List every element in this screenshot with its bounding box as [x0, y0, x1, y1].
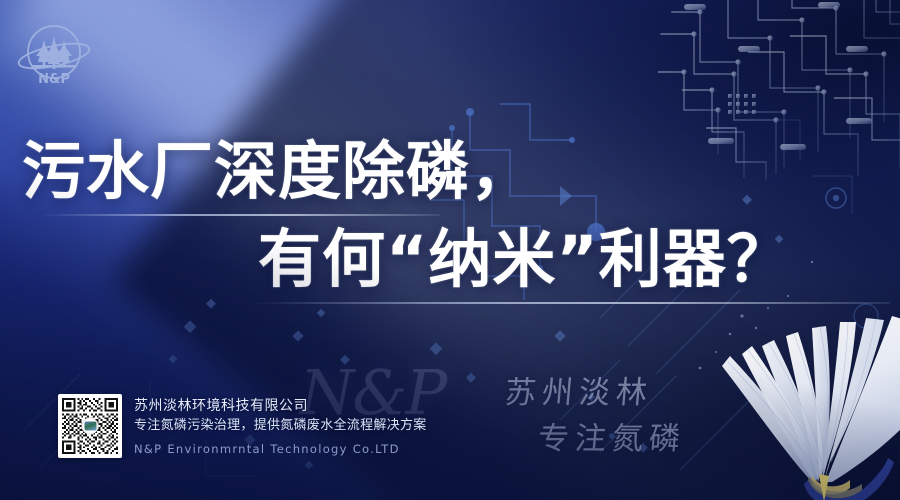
qr-center-logo: [82, 418, 99, 435]
footer-block: 苏州淡林环境科技有限公司 专注氮磷污染治理，提供氮磷废水全流程解决方案 N&P …: [58, 394, 427, 459]
company-name-en: N&P Environmrntal Technology Co.LTD: [134, 439, 427, 459]
company-name-cn: 苏州淡林环境科技有限公司: [134, 396, 427, 416]
poster-canvas: N&P 污水厂深度除磷， 有何“纳米”利器？ N&P 苏州淡林 专注氮磷: [0, 0, 900, 500]
qr-code-icon[interactable]: [58, 394, 122, 458]
footer-text-block: 苏州淡林环境科技有限公司 专注氮磷污染治理，提供氮磷废水全流程解决方案 N&P …: [134, 394, 427, 459]
company-tagline-cn: 专注氮磷污染治理，提供氮磷废水全流程解决方案: [134, 416, 427, 436]
logo-monogram: N&P: [38, 72, 70, 87]
np-company-logo: N&P: [12, 16, 96, 94]
